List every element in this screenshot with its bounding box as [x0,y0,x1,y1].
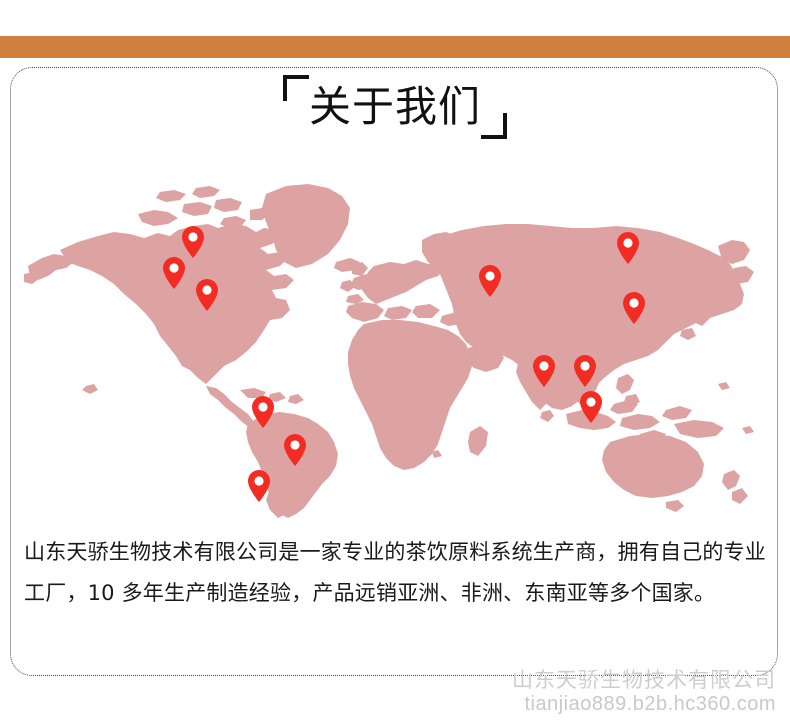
map-landmasses [24,184,754,518]
accent-bar [0,36,790,58]
watermark-url: tianjiao889.b2b.hc360.com [512,692,776,716]
page-title: 关于我们 [0,79,790,149]
title-bracketed: 关于我们 [283,79,507,135]
page-title-label: 关于我们 [309,79,481,135]
bracket-bottom-right-icon [481,113,507,139]
about-paragraph: 山东天骄生物技术有限公司是一家专业的茶饮原料系统生产商，拥有自己的专业工厂，10… [24,532,766,614]
world-map [18,170,772,520]
pin-argentina[interactable] [248,470,270,502]
world-map-svg [18,170,772,520]
bracket-top-left-icon [283,75,309,101]
